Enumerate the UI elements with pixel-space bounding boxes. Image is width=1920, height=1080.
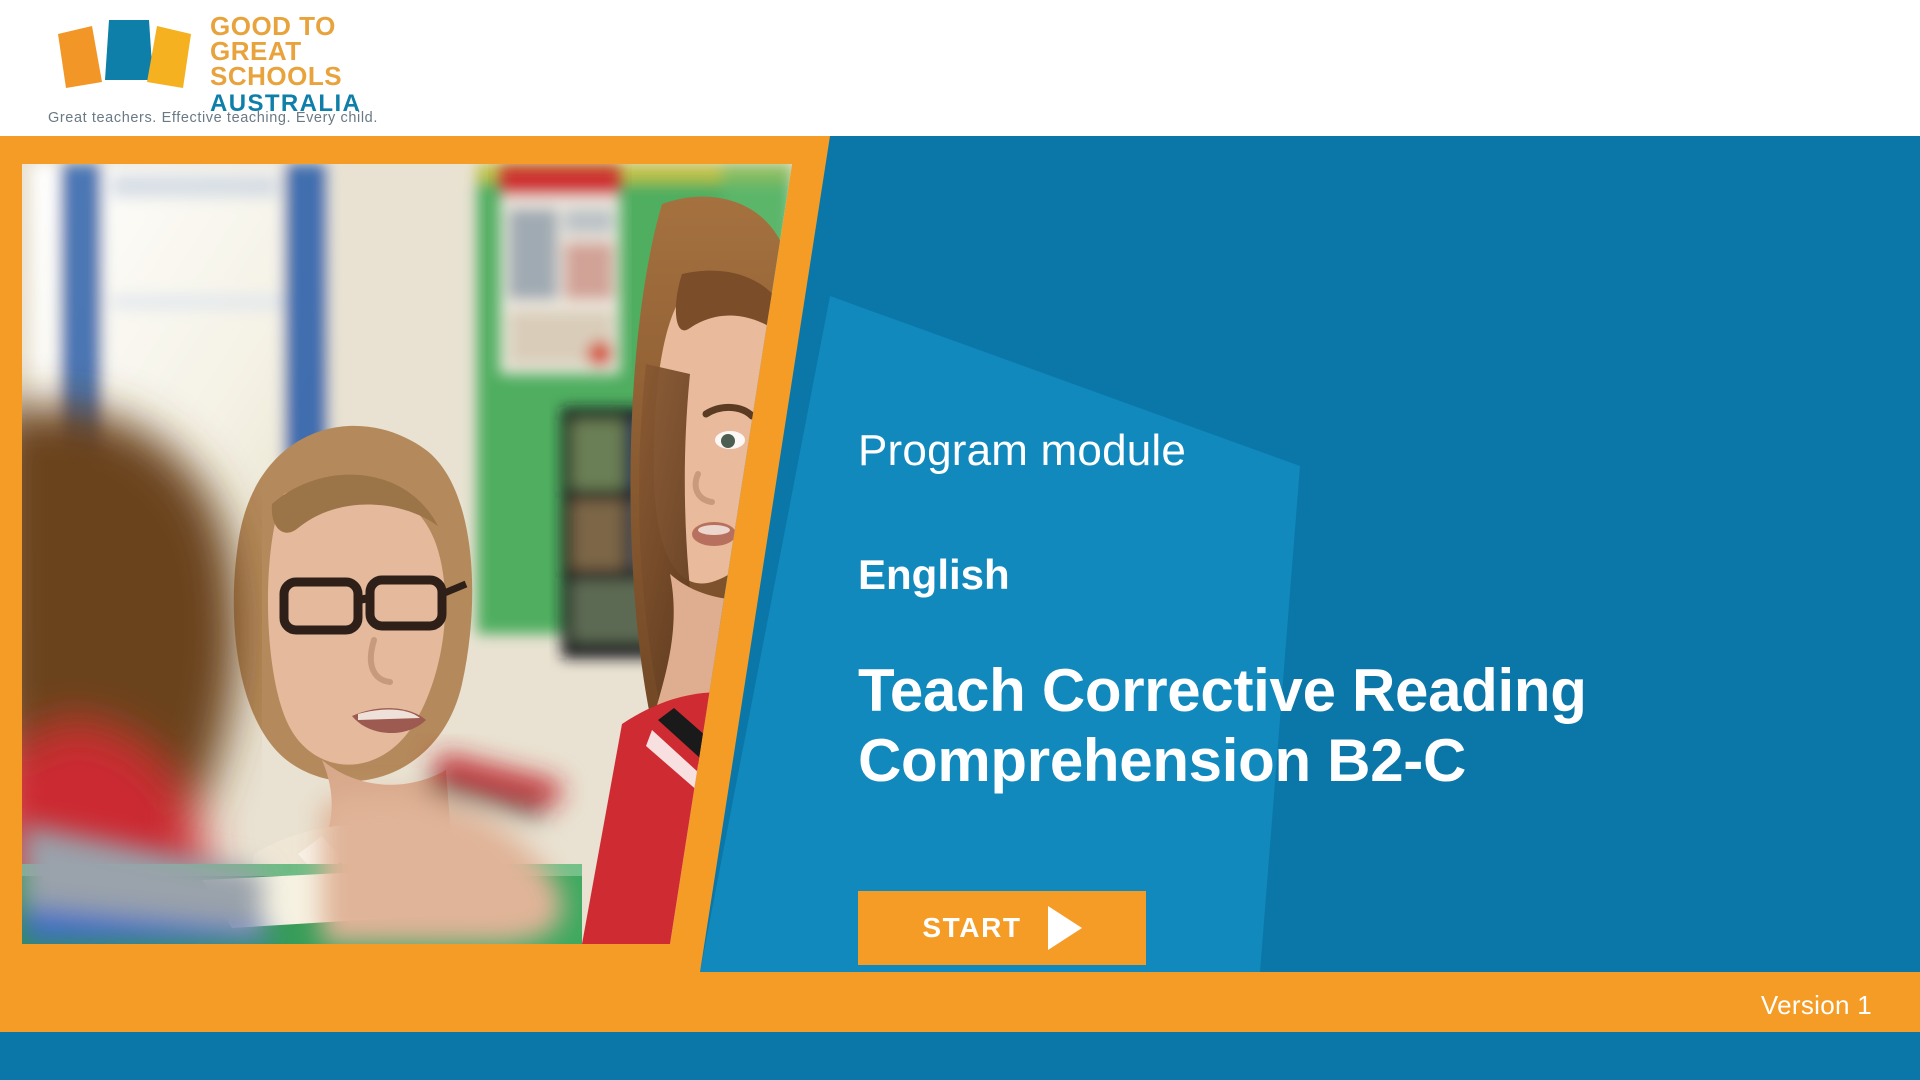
brand-tagline: Great teachers. Effective teaching. Ever… xyxy=(48,110,378,126)
version-label: Version 1 xyxy=(1761,990,1872,1021)
footer-teal-bar xyxy=(0,1032,1920,1080)
logo-line-3: SCHOOLS xyxy=(210,64,350,89)
page-header: GOOD TO GREAT SCHOOLS AUSTRALIA Great te… xyxy=(0,0,1920,136)
subject-label: English xyxy=(858,551,1010,599)
start-button[interactable]: START xyxy=(858,891,1146,965)
footer-orange-bar xyxy=(0,972,1920,1032)
logo-mark-icon xyxy=(54,18,194,92)
logo-wordmark: GOOD TO GREAT SCHOOLS AUSTRALIA xyxy=(210,14,350,98)
hero-stage: Program module English Teach Corrective … xyxy=(0,136,1920,1032)
play-triangle-icon xyxy=(1048,906,1082,950)
module-title: Teach Corrective Reading Comprehension B… xyxy=(858,656,1678,795)
start-button-label: START xyxy=(922,912,1021,944)
hero-content: Program module English Teach Corrective … xyxy=(858,136,1858,972)
brand-logo[interactable]: GOOD TO GREAT SCHOOLS AUSTRALIA xyxy=(48,12,348,126)
program-module-label: Program module xyxy=(858,426,1186,476)
classroom-photo xyxy=(22,164,792,944)
